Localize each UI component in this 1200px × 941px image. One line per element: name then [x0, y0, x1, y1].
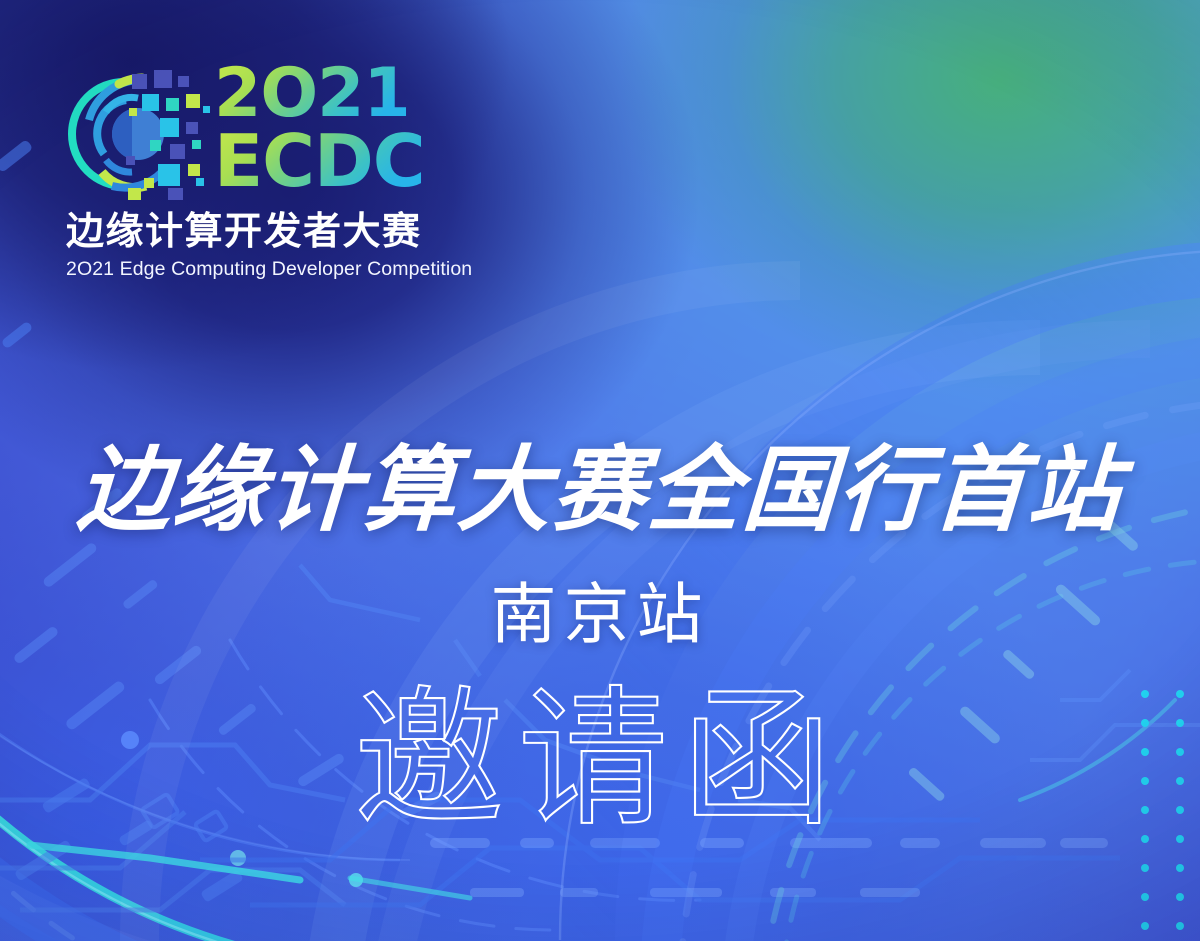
poster-canvas: 2O21 ECDC 边缘计算开发者大赛 2O21 Edge Computing …: [0, 0, 1200, 941]
background-vignette: [0, 0, 1200, 941]
